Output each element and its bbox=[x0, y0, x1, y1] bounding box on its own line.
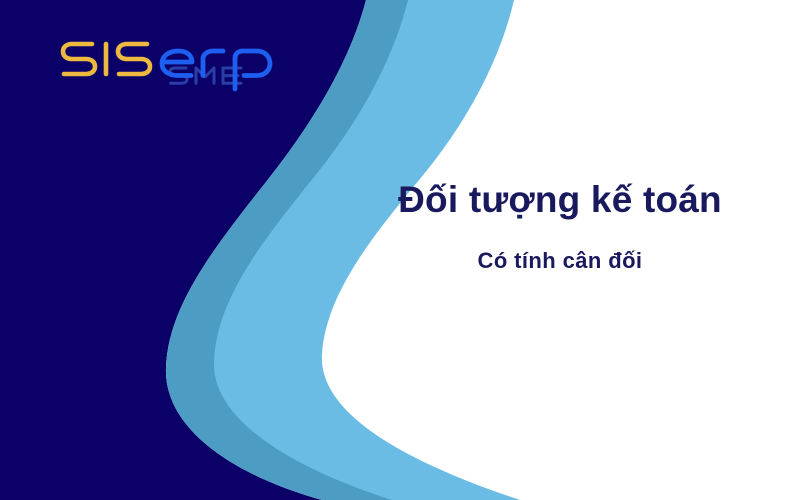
brand-logo bbox=[58, 32, 298, 94]
logo-sis-mark bbox=[63, 44, 150, 74]
page-title: Đối tượng kế toán bbox=[340, 178, 780, 222]
slide-text-block: Đối tượng kế toán Có tính cân đối bbox=[340, 178, 780, 274]
brand-logo-artwork bbox=[58, 32, 298, 94]
slide-canvas: Đối tượng kế toán Có tính cân đối bbox=[0, 0, 800, 500]
page-subtitle: Có tính cân đối bbox=[340, 222, 780, 274]
